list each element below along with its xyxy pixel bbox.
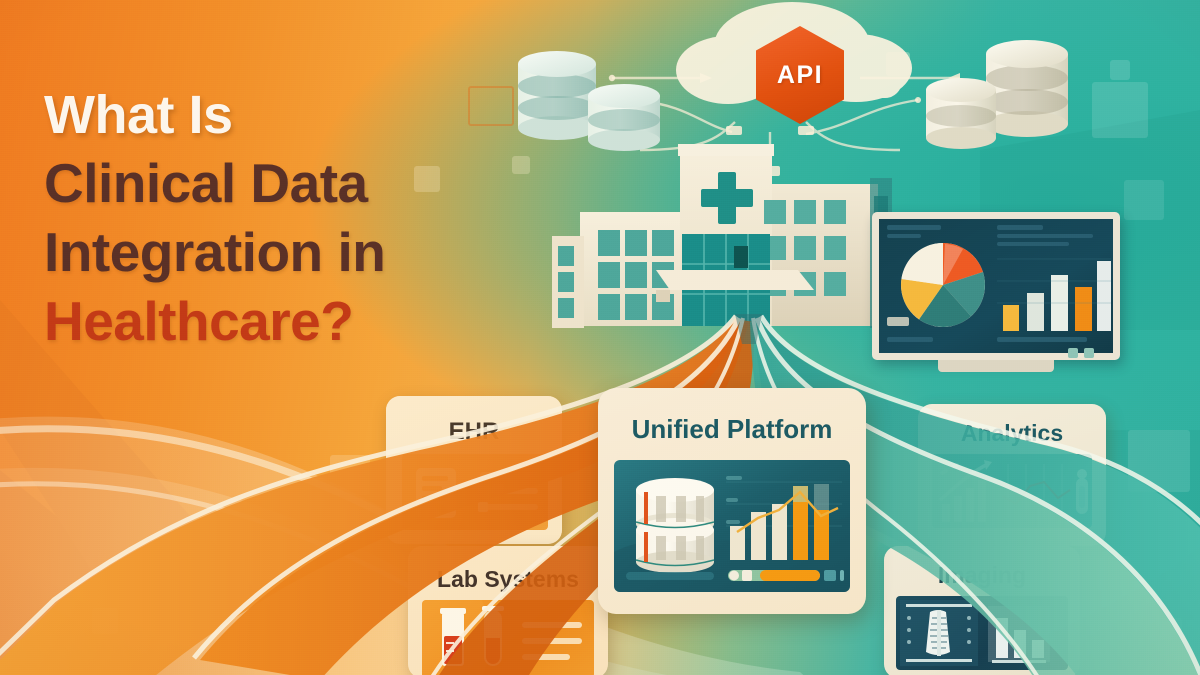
infographic-canvas: API xyxy=(0,0,1200,675)
vignette-overlay xyxy=(0,0,1200,675)
